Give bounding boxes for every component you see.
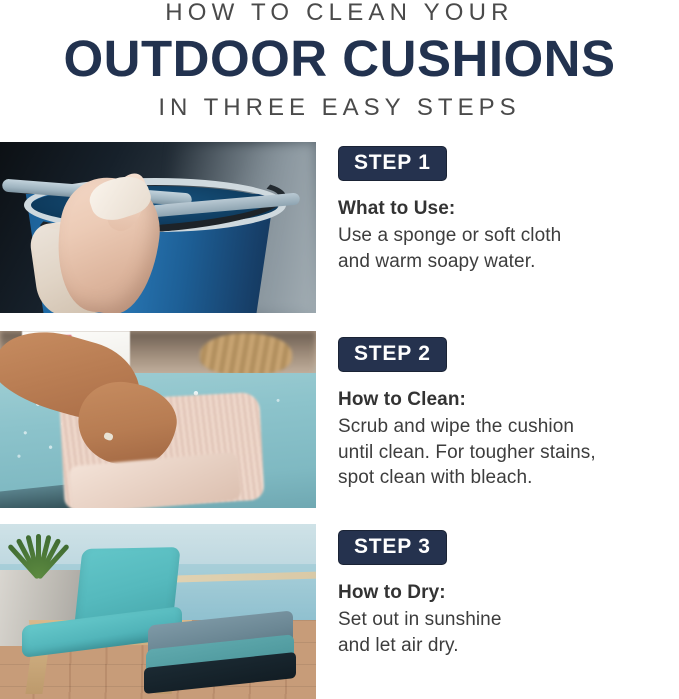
step-3-body: Set out in sunshine and let air dry. — [338, 607, 679, 658]
header-line-1: HOW TO CLEAN YOUR — [0, 0, 679, 26]
step-3-photo — [0, 524, 316, 699]
header-line-3: IN THREE EASY STEPS — [0, 94, 679, 122]
wicker-basket-icon — [200, 333, 292, 375]
step-1-content: STEP 1 What to Use: Use a sponge or soft… — [338, 146, 679, 274]
step-3-content: STEP 3 How to Dry: Set out in sunshine a… — [338, 530, 679, 658]
step-1-badge: STEP 1 — [338, 146, 447, 181]
step-3-heading: How to Dry: — [338, 581, 679, 605]
step-2-content: STEP 2 How to Clean: Scrub and wipe the … — [338, 337, 679, 491]
step-3-badge: STEP 3 — [338, 530, 447, 565]
step-2-photo — [0, 331, 316, 508]
infographic-page: HOW TO CLEAN YOUR OUTDOOR CUSHIONS IN TH… — [0, 0, 679, 699]
page-title: OUTDOOR CUSHIONS — [0, 30, 679, 88]
step-2-heading: How to Clean: — [338, 388, 679, 412]
agave-plant-icon — [4, 530, 76, 578]
step-1-body: Use a sponge or soft cloth and warm soap… — [338, 223, 679, 274]
page-header: HOW TO CLEAN YOUR OUTDOOR CUSHIONS IN TH… — [0, 0, 679, 122]
step-1-photo — [0, 142, 316, 313]
step-1-heading: What to Use: — [338, 197, 679, 221]
step-2-badge: STEP 2 — [338, 337, 447, 372]
step-2-body: Scrub and wipe the cushion until clean. … — [338, 414, 679, 491]
